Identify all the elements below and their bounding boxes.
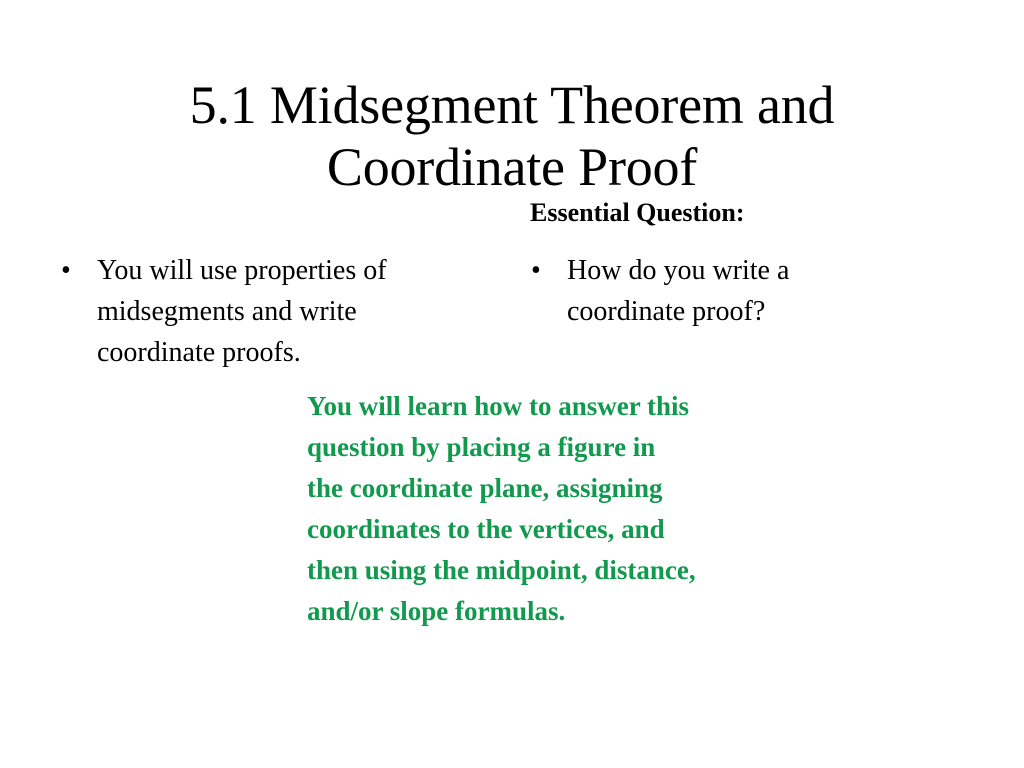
green-answer-note-line-2: question by placing a figure in [307, 427, 823, 468]
green-answer-note-line-1: You will learn how to answer this [307, 386, 823, 427]
slide-canvas: 5.1 Midsegment Theorem and Coordinate Pr… [0, 0, 1024, 768]
green-answer-note: You will learn how to answer this questi… [307, 386, 823, 632]
green-answer-note-line-4: coordinates to the vertices, and [307, 509, 823, 550]
green-answer-note-line-5: then using the midpoint, distance, [307, 550, 823, 591]
right-content-column: Essential Question: • How do you write a… [528, 198, 888, 332]
page-title-line-1: 5.1 Midsegment Theorem and [62, 74, 962, 136]
left-bullet-list: • You will use properties of midsegments… [58, 250, 476, 373]
green-answer-note-line-3: the coordinate plane, assigning [307, 468, 823, 509]
page-title: 5.1 Midsegment Theorem and Coordinate Pr… [62, 74, 962, 198]
list-item-label: How do you write a coordinate proof? [567, 255, 789, 327]
bullet-point-icon: • [61, 250, 77, 291]
green-answer-note-line-6: and/or slope formulas. [307, 591, 823, 632]
left-content-column: • You will use properties of midsegments… [58, 250, 476, 373]
list-item: • You will use properties of midsegments… [58, 250, 476, 373]
right-bullet-list: • How do you write a coordinate proof? [528, 250, 888, 332]
essential-question-heading: Essential Question: [530, 198, 888, 228]
bullet-point-icon: • [531, 250, 547, 291]
list-item: • How do you write a coordinate proof? [528, 250, 888, 332]
list-item-label: You will use properties of midsegments a… [97, 255, 387, 368]
page-title-line-2: Coordinate Proof [62, 136, 962, 198]
